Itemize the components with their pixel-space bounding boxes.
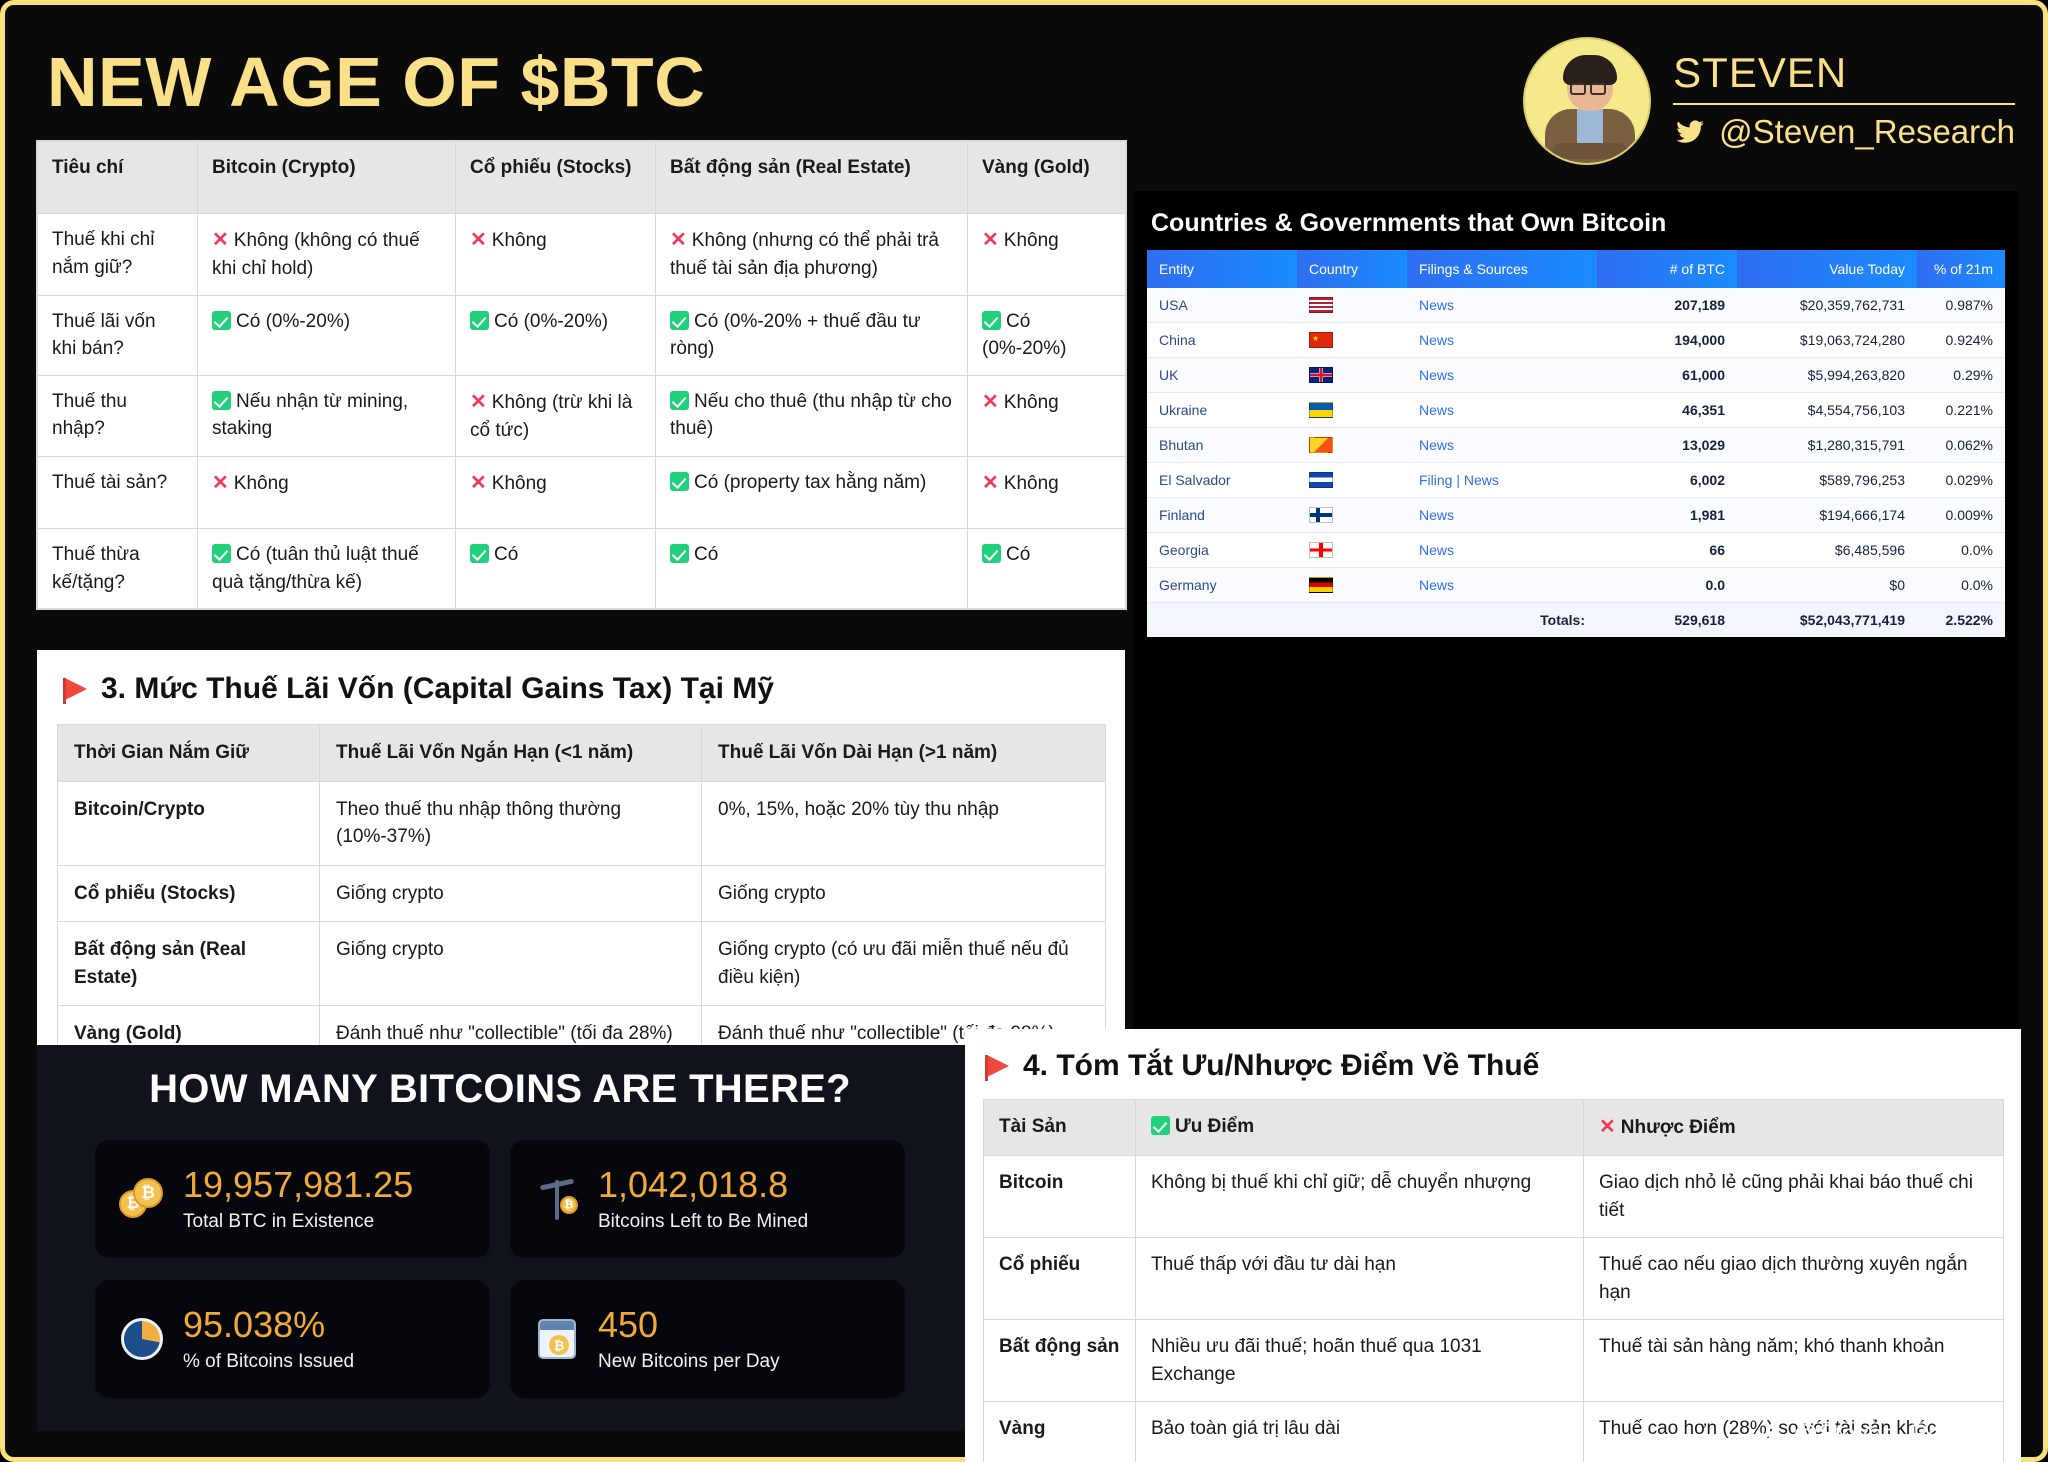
row-label: Bitcoin/Crypto [58, 781, 320, 865]
entity-cell: Bhutan [1147, 428, 1297, 463]
countries-title: Countries & Governments that Own Bitcoin [1151, 209, 2001, 238]
country-cell [1297, 498, 1407, 533]
btc-count: 194,000 [1597, 323, 1737, 358]
value-today: $0 [1737, 568, 1917, 603]
cell-0: Có (tuân thủ luật thuế quà tặng/thừa kế) [198, 529, 456, 609]
cell-1: Có (0%-20%) [456, 295, 656, 375]
countries-table: EntityCountryFilings & Sources# of BTCVa… [1147, 250, 2005, 637]
pie-chart-icon [119, 1316, 165, 1362]
x-icon: ✕ [1599, 1113, 1616, 1142]
table-header-row: Thời Gian Nắm GiữThuế Lãi Vốn Ngắn Hạn (… [58, 725, 1106, 782]
tax-comparison-panel: Tiêu chíBitcoin (Crypto)Cổ phiếu (Stocks… [37, 141, 1125, 609]
x-icon: ✕ [212, 469, 229, 498]
sources-link[interactable]: News [1407, 498, 1597, 533]
x-icon: ✕ [470, 388, 487, 417]
de-flag-icon [1309, 577, 1333, 593]
table-row: Bất động sảnNhiều ưu đãi thuế; hoãn thuế… [984, 1320, 2004, 1402]
watermark: @Steven_Research [1759, 1420, 2017, 1449]
pickaxe-icon: ₿ [534, 1176, 580, 1222]
cell-3: ✕Không [968, 375, 1126, 457]
value-today: $194,666,174 [1737, 498, 1917, 533]
cell-2: Giống crypto (có ưu đãi miễn thuế nếu đủ… [702, 922, 1106, 1006]
page-title: NEW AGE OF $BTC [47, 47, 705, 117]
cell-2: 0%, 15%, hoặc 20% tùy thu nhập [702, 781, 1106, 865]
column-header-4: Value Today [1737, 250, 1917, 288]
country-cell: ★ [1297, 323, 1407, 358]
country-cell [1297, 568, 1407, 603]
table-row: BitcoinKhông bị thuế khi chỉ giữ; dễ chu… [984, 1156, 2004, 1238]
cell-0: Nếu nhận từ mining, staking [198, 375, 456, 457]
cell-0: ✕Không [198, 457, 456, 529]
section-title: 4. Tóm Tắt Ưu/Nhược Điểm Về Thuế [1023, 1049, 1539, 1083]
totals-label: Totals: [1407, 603, 1597, 638]
country-cell [1297, 393, 1407, 428]
value-today: $5,994,263,820 [1737, 358, 1917, 393]
table-header-row: EntityCountryFilings & Sources# of BTCVa… [1147, 250, 2005, 288]
btc-stat-value: 450 [598, 1305, 780, 1345]
totals-blank2 [1297, 603, 1407, 638]
sources-link[interactable]: News [1407, 288, 1597, 323]
country-cell [1297, 463, 1407, 498]
row-label: Vàng [984, 1402, 1136, 1462]
cell-2: Có [656, 529, 968, 609]
btc-stat-card: ₿1,042,018.8Bitcoins Left to Be Mined [510, 1140, 905, 1258]
red-flag-icon [65, 678, 87, 700]
cell-2: Nếu cho thuê (thu nhập từ cho thuê) [656, 375, 968, 457]
entity-cell: Georgia [1147, 533, 1297, 568]
pct-of-21m: 0.0% [1917, 568, 2005, 603]
cell-1: Có [456, 529, 656, 609]
btc-stat-text: 19,957,981.25Total BTC in Existence [183, 1165, 413, 1233]
column-header-2: ✕Nhược Điểm [1584, 1100, 2004, 1156]
btc-count: 66 [1597, 533, 1737, 568]
row-criterion: Thuế lãi vốn khi bán? [38, 295, 198, 375]
btc-stat-text: 450New Bitcoins per Day [598, 1305, 780, 1373]
totals-btc: 529,618 [1597, 603, 1737, 638]
row-criterion: Thuế khi chỉ nắm giữ? [38, 214, 198, 296]
row-label: Bất động sản [984, 1320, 1136, 1402]
cell-2: Có (property tax hằng năm) [656, 457, 968, 529]
table-row: Thuế khi chỉ nắm giữ?✕Không (không có th… [38, 214, 1126, 296]
cell-0: ✕Không (không có thuế khi chỉ hold) [198, 214, 456, 296]
bt-flag-icon [1309, 437, 1333, 453]
profile-name: STEVEN [1673, 51, 2015, 95]
check-icon [670, 391, 689, 410]
ge-flag-icon [1309, 542, 1333, 558]
totals-row: Totals:529,618$52,043,771,4192.522% [1147, 603, 2005, 638]
btc-stat-label: New Bitcoins per Day [598, 1351, 780, 1373]
countries-panel: Countries & Governments that Own Bitcoin… [1133, 191, 2019, 1029]
btc-count: 46,351 [1597, 393, 1737, 428]
cell-1: Giống crypto [320, 865, 702, 922]
btc-stat-card: ₿450New Bitcoins per Day [510, 1280, 905, 1398]
divider [1673, 103, 2015, 105]
table-row: BhutanNews13,029$1,280,315,7910.062% [1147, 428, 2005, 463]
totals-blank [1147, 603, 1297, 638]
cell-1: ✕Không [456, 214, 656, 296]
btc-panel-title: HOW MANY BITCOINS ARE THERE? [95, 1067, 905, 1112]
check-icon [982, 544, 1001, 563]
column-header-0: Tiêu chí [38, 142, 198, 214]
btc-count: 13,029 [1597, 428, 1737, 463]
check-icon [670, 311, 689, 330]
btc-count: 0.0 [1597, 568, 1737, 603]
column-header-4: Vàng (Gold) [968, 142, 1126, 214]
table-row: China★News194,000$19,063,724,2800.924% [1147, 323, 2005, 358]
btc-stat-text: 95.038%% of Bitcoins Issued [183, 1305, 354, 1373]
sources-link[interactable]: News [1407, 568, 1597, 603]
country-cell [1297, 533, 1407, 568]
column-header-2: Filings & Sources [1407, 250, 1597, 288]
btc-count: 1,981 [1597, 498, 1737, 533]
value-today: $1,280,315,791 [1737, 428, 1917, 463]
sources-link[interactable]: News [1407, 428, 1597, 463]
column-header-2: Cổ phiếu (Stocks) [456, 142, 656, 214]
table-row: UkraineNews46,351$4,554,756,1030.221% [1147, 393, 2005, 428]
bitcoin-supply-panel: HOW MANY BITCOINS ARE THERE? ₿₿19,957,98… [37, 1045, 1125, 1431]
check-icon [212, 391, 231, 410]
country-cell [1297, 288, 1407, 323]
cell-1: Theo thuế thu nhập thông thường (10%-37%… [320, 781, 702, 865]
entity-cell: UK [1147, 358, 1297, 393]
x-icon: ✕ [982, 226, 999, 255]
tax-comparison-table: Tiêu chíBitcoin (Crypto)Cổ phiếu (Stocks… [37, 141, 1126, 609]
btc-stat-value: 95.038% [183, 1305, 354, 1345]
value-today: $20,359,762,731 [1737, 288, 1917, 323]
cell-0: Có (0%-20%) [198, 295, 456, 375]
x-icon: ✕ [212, 226, 229, 255]
table-row: Thuế tài sản?✕Không✕KhôngCó (property ta… [38, 457, 1126, 529]
cell-2: Có (0%-20% + thuế đầu tư ròng) [656, 295, 968, 375]
totals-value: $52,043,771,419 [1737, 603, 1917, 638]
cell-1: Thuế thấp với đầu tư dài hạn [1136, 1238, 1584, 1320]
table-row: Cổ phiếu (Stocks)Giống cryptoGiống crypt… [58, 865, 1106, 922]
column-header-1: Ưu Điểm [1136, 1100, 1584, 1156]
check-icon [670, 472, 689, 491]
row-label: Cổ phiếu [984, 1238, 1136, 1320]
capital-gains-table: Thời Gian Nắm GiữThuế Lãi Vốn Ngắn Hạn (… [57, 724, 1106, 1063]
column-header-3: # of BTC [1597, 250, 1737, 288]
cell-1: Nhiều ưu đãi thuế; hoãn thuế qua 1031 Ex… [1136, 1320, 1584, 1402]
check-icon [212, 311, 231, 330]
x-icon: ✕ [470, 226, 487, 255]
calendar-bitcoin-icon: ₿ [534, 1316, 580, 1362]
totals-pct: 2.522% [1917, 603, 2005, 638]
cell-1: ✕Không [456, 457, 656, 529]
value-today: $19,063,724,280 [1737, 323, 1917, 358]
check-icon [1151, 1116, 1170, 1135]
btc-stat-card: 95.038%% of Bitcoins Issued [95, 1280, 490, 1398]
column-header-2: Thuế Lãi Vốn Dài Hạn (>1 năm) [702, 725, 1106, 782]
sources-link[interactable]: News [1407, 393, 1597, 428]
cell-2: Thuế tài sản hàng năm; khó thanh khoản [1584, 1320, 2004, 1402]
gb-flag-icon [1309, 367, 1333, 383]
section-heading-4: 4. Tóm Tắt Ưu/Nhược Điểm Về Thuế [987, 1049, 2003, 1083]
cell-2: ✕Không (nhưng có thể phải trả thuế tài s… [656, 214, 968, 296]
column-header-0: Entity [1147, 250, 1297, 288]
column-header-0: Tài Sản [984, 1100, 1136, 1156]
table-row: Thuế thừa kế/tặng?Có (tuân thủ luật thuế… [38, 529, 1126, 609]
sources-link[interactable]: News [1407, 533, 1597, 568]
watermark-text: @Steven_Research [1793, 1420, 2017, 1449]
section-title: 3. Mức Thuế Lãi Vốn (Capital Gains Tax) … [101, 672, 774, 706]
country-cell [1297, 428, 1407, 463]
table-row: UKNews61,000$5,994,263,8200.29% [1147, 358, 2005, 393]
btc-stat-text: 1,042,018.8Bitcoins Left to Be Mined [598, 1165, 808, 1233]
profile-handle: @Steven_Research [1719, 113, 2015, 151]
entity-cell: Germany [1147, 568, 1297, 603]
capital-gains-panel: 3. Mức Thuế Lãi Vốn (Capital Gains Tax) … [37, 650, 1125, 1083]
row-criterion: Thuế tài sản? [38, 457, 198, 529]
row-label: Cổ phiếu (Stocks) [58, 865, 320, 922]
row-criterion: Thuế thừa kế/tặng? [38, 529, 198, 609]
pct-of-21m: 0.009% [1917, 498, 2005, 533]
table-row: Cổ phiếuThuế thấp với đầu tư dài hạnThuế… [984, 1238, 2004, 1320]
table-header-row: Tài SảnƯu Điểm✕Nhược Điểm [984, 1100, 2004, 1156]
table-row: GeorgiaNews66$6,485,5960.0% [1147, 533, 2005, 568]
check-icon [470, 311, 489, 330]
column-header-1: Country [1297, 250, 1407, 288]
btc-stat-label: Bitcoins Left to Be Mined [598, 1211, 808, 1233]
row-label: Bitcoin [984, 1156, 1136, 1238]
cn-flag-icon: ★ [1309, 332, 1333, 348]
bitcoin-coins-icon: ₿₿ [119, 1176, 165, 1222]
value-today: $589,796,253 [1737, 463, 1917, 498]
fi-flag-icon [1309, 507, 1333, 523]
pros-cons-panel: 4. Tóm Tắt Ưu/Nhược Điểm Về Thuế Tài Sản… [965, 1029, 2021, 1462]
pct-of-21m: 0.029% [1917, 463, 2005, 498]
pct-of-21m: 0.062% [1917, 428, 2005, 463]
btc-stat-grid: ₿₿19,957,981.25Total BTC in Existence₿1,… [95, 1140, 905, 1398]
entity-cell: Ukraine [1147, 393, 1297, 428]
pros-cons-table: Tài SảnƯu Điểm✕Nhược Điểm BitcoinKhông b… [983, 1099, 2004, 1462]
table-row: USANews207,189$20,359,762,7310.987% [1147, 288, 2005, 323]
twitter-bird-icon [1673, 117, 1707, 147]
value-today: $4,554,756,103 [1737, 393, 1917, 428]
red-flag-icon [987, 1055, 1009, 1077]
profile-block: STEVEN @Steven_Research [1523, 37, 2015, 165]
btc-count: 6,002 [1597, 463, 1737, 498]
btc-stat-value: 1,042,018.8 [598, 1165, 808, 1205]
btc-stat-label: % of Bitcoins Issued [183, 1351, 354, 1373]
table-row: Thuế lãi vốn khi bán?Có (0%-20%)Có (0%-2… [38, 295, 1126, 375]
table-header-row: Tiêu chíBitcoin (Crypto)Cổ phiếu (Stocks… [38, 142, 1126, 214]
diamond-logo-icon [1759, 1423, 1783, 1447]
column-header-1: Bitcoin (Crypto) [198, 142, 456, 214]
sv-flag-icon [1309, 472, 1333, 488]
pct-of-21m: 0.987% [1917, 288, 2005, 323]
sources-link[interactable]: News [1407, 358, 1597, 393]
table-row: GermanyNews0.0$00.0% [1147, 568, 2005, 603]
cell-3: Có (0%-20%) [968, 295, 1126, 375]
entity-cell: El Salvador [1147, 463, 1297, 498]
country-cell [1297, 358, 1407, 393]
table-row: Thuế thu nhập?Nếu nhận từ mining, stakin… [38, 375, 1126, 457]
cell-3: ✕Không [968, 457, 1126, 529]
btc-stat-value: 19,957,981.25 [183, 1165, 413, 1205]
section-heading-3: 3. Mức Thuế Lãi Vốn (Capital Gains Tax) … [65, 672, 1105, 706]
cell-2: Giao dịch nhỏ lẻ cũng phải khai báo thuế… [1584, 1156, 2004, 1238]
table-row: Bất động sản (Real Estate)Giống cryptoGi… [58, 922, 1106, 1006]
row-label: Bất động sản (Real Estate) [58, 922, 320, 1006]
check-icon [982, 311, 1001, 330]
ua-flag-icon [1309, 402, 1333, 418]
column-header-1: Thuế Lãi Vốn Ngắn Hạn (<1 năm) [320, 725, 702, 782]
cell-3: ✕Không [968, 214, 1126, 296]
cell-2: Giống crypto [702, 865, 1106, 922]
poster-root: NEW AGE OF $BTC STEVEN @Steven_Research … [0, 0, 2048, 1462]
column-header-3: Bất động sản (Real Estate) [656, 142, 968, 214]
btc-count: 61,000 [1597, 358, 1737, 393]
pct-of-21m: 0.29% [1917, 358, 2005, 393]
column-header-0: Thời Gian Nắm Giữ [58, 725, 320, 782]
check-icon [212, 544, 231, 563]
table-row: El SalvadorFiling | News6,002$589,796,25… [1147, 463, 2005, 498]
cell-1: Không bị thuế khi chỉ giữ; dễ chuyển như… [1136, 1156, 1584, 1238]
x-icon: ✕ [982, 469, 999, 498]
pct-of-21m: 0.924% [1917, 323, 2005, 358]
x-icon: ✕ [670, 226, 687, 255]
check-icon [470, 544, 489, 563]
value-today: $6,485,596 [1737, 533, 1917, 568]
table-row: FinlandNews1,981$194,666,1740.009% [1147, 498, 2005, 533]
pct-of-21m: 0.0% [1917, 533, 2005, 568]
btc-stat-label: Total BTC in Existence [183, 1211, 413, 1233]
sources-link[interactable]: News [1407, 323, 1597, 358]
entity-cell: China [1147, 323, 1297, 358]
cell-1: Giống crypto [320, 922, 702, 1006]
x-icon: ✕ [470, 469, 487, 498]
avatar [1523, 37, 1651, 165]
cell-1: ✕Không (trừ khi là cổ tức) [456, 375, 656, 457]
btc-stat-card: ₿₿19,957,981.25Total BTC in Existence [95, 1140, 490, 1258]
check-icon [670, 544, 689, 563]
sources-link[interactable]: Filing | News [1407, 463, 1597, 498]
table-row: Bitcoin/CryptoTheo thuế thu nhập thông t… [58, 781, 1106, 865]
row-criterion: Thuế thu nhập? [38, 375, 198, 457]
cell-3: Có [968, 529, 1126, 609]
entity-cell: USA [1147, 288, 1297, 323]
column-header-5: % of 21m [1917, 250, 2005, 288]
entity-cell: Finland [1147, 498, 1297, 533]
btc-count: 207,189 [1597, 288, 1737, 323]
pct-of-21m: 0.221% [1917, 393, 2005, 428]
cell-1: Bảo toàn giá trị lâu dài [1136, 1402, 1584, 1462]
cell-2: Thuế cao nếu giao dịch thường xuyên ngắn… [1584, 1238, 2004, 1320]
us-flag-icon [1309, 297, 1333, 313]
x-icon: ✕ [982, 388, 999, 417]
